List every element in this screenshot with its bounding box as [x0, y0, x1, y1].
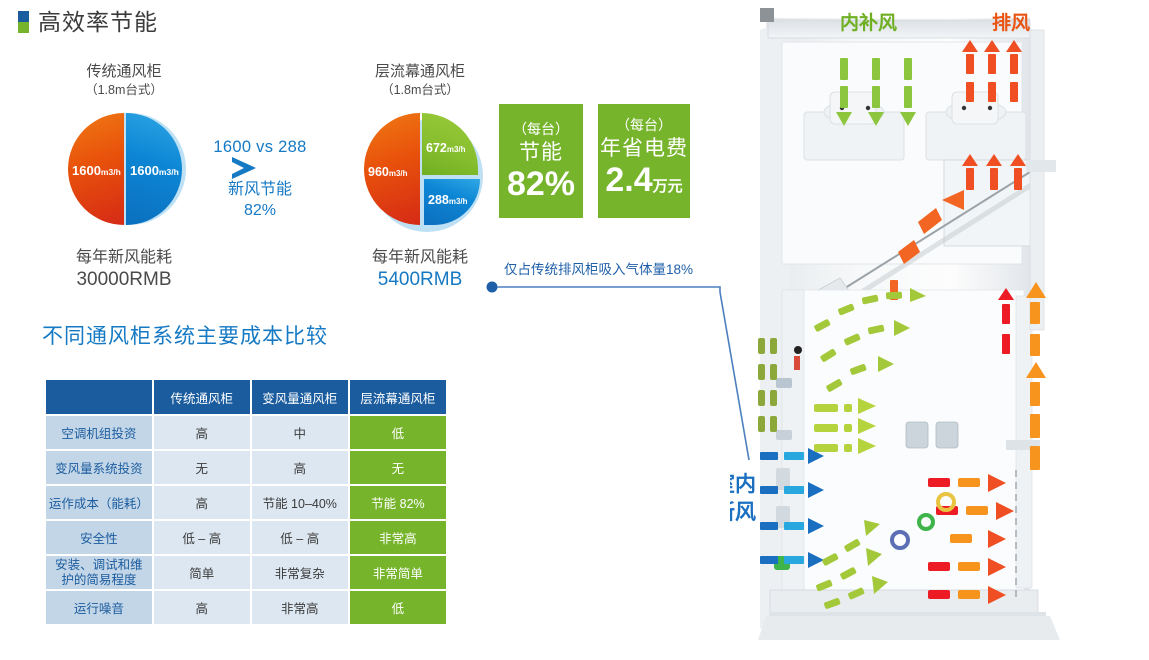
table-row-label: 安全性: [46, 521, 152, 554]
arrow-right-icon: [196, 157, 324, 179]
pie-label-supply: 1600m3/h: [130, 163, 179, 178]
badge-top-label: （每台）: [513, 121, 569, 138]
comparison-callout: 1600 vs 288 新风节能 82%: [196, 138, 324, 221]
table-cell: 无: [154, 451, 250, 484]
badge-mid-label: 节能: [519, 140, 563, 166]
badge-cost-saving: （每台） 年省电费 2.4万元: [598, 104, 690, 218]
table-row-label: 运行噪音: [46, 591, 152, 624]
table-row: 安装、调试和维护的简易程度简单非常复杂非常简单: [46, 556, 446, 589]
table-header-laminar: 层流幕通风柜: [350, 380, 446, 414]
footer-label: 每年新风能耗: [34, 247, 214, 269]
table-body: 空调机组投资高中低变风量系统投资无高无运作成本（能耗）高节能 10–40%节能 …: [46, 416, 446, 624]
label-room-fresh-air-line2: 新风: [730, 500, 756, 526]
chart-caption-traditional: 传统通风柜 （1.8m台式）: [34, 62, 214, 100]
badge-energy-saving: （每台） 节能 82%: [499, 104, 583, 218]
table-cell: 简单: [154, 556, 250, 589]
pie-label-exhaust: 1600m3/h: [72, 163, 121, 178]
table-header-row: 传统通风柜 变风量通风柜 层流幕通风柜: [46, 380, 446, 414]
comparison-label: 新风节能: [196, 179, 324, 200]
infographic-page: 高效率节能 传统通风柜 （1.8m台式） 1600m3/h 1600m3/h 每…: [0, 0, 1149, 660]
table-cell: 节能 10–40%: [252, 486, 348, 519]
header-square-icon: [18, 11, 29, 33]
table-cell-highlight: 非常简单: [350, 556, 446, 589]
page-title: 高效率节能: [38, 10, 158, 34]
label-exhaust: 排风: [992, 8, 1030, 35]
table-cell: 非常高: [252, 591, 348, 624]
caption-title: 层流幕通风柜: [330, 62, 510, 81]
table-row-label: 运作成本（能耗）: [46, 486, 152, 519]
chart-caption-laminar: 层流幕通风柜 （1.8m台式）: [330, 62, 510, 100]
table-row: 安全性低 – 高低 – 高非常高: [46, 521, 446, 554]
footer-value: 30000RMB: [34, 269, 214, 291]
table-row: 运行噪音高非常高低: [46, 591, 446, 624]
chart-block-traditional: 传统通风柜 （1.8m台式） 1600m3/h 1600m3/h 每年新风能耗 …: [34, 62, 214, 291]
caption-sub: （1.8m台式）: [34, 81, 214, 100]
footer-value: 5400RMB: [330, 269, 510, 291]
table-cell: 高: [252, 451, 348, 484]
fume-hood-photo: 内补风 排风 室内 新风: [730, 0, 1149, 660]
pie-label-exhaust: 960m3/h: [368, 165, 408, 179]
comparison-table: 传统通风柜 变风量通风柜 层流幕通风柜 空调机组投资高中低变风量系统投资无高无运…: [44, 378, 448, 626]
comparison-ratio: 1600 vs 288: [196, 138, 324, 157]
comparison-percent: 82%: [196, 200, 324, 221]
pie-label-fresh-air: 288m3/h: [428, 193, 468, 207]
badge-mid-label: 年省电费: [600, 136, 688, 162]
table-cell-highlight: 无: [350, 451, 446, 484]
table-row: 变风量系统投资无高无: [46, 451, 446, 484]
chart-footer-traditional: 每年新风能耗 30000RMB: [34, 247, 214, 291]
table-header-vav: 变风量通风柜: [252, 380, 348, 414]
table-row: 运作成本（能耗）高节能 10–40%节能 82%: [46, 486, 446, 519]
table-header-blank: [46, 380, 152, 414]
table-cell: 高: [154, 486, 250, 519]
badge-value: 82%: [507, 166, 575, 202]
chart-block-laminar: 层流幕通风柜 （1.8m台式） 960m3/h 672m3/h 288m3/h …: [330, 62, 510, 291]
page-header: 高效率节能: [18, 10, 158, 34]
pie-chart-traditional: 1600m3/h 1600m3/h: [68, 113, 180, 225]
caption-title: 传统通风柜: [34, 62, 214, 81]
table-cell: 中: [252, 416, 348, 449]
table-cell: 非常复杂: [252, 556, 348, 589]
label-internal-supply: 内补风: [840, 8, 897, 35]
table-row: 空调机组投资高中低: [46, 416, 446, 449]
table-cell: 低 – 高: [154, 521, 250, 554]
table-cell-highlight: 节能 82%: [350, 486, 446, 519]
badge-value: 2.4万元: [605, 162, 682, 205]
table-title: 不同通风柜系统主要成本比较: [42, 320, 328, 350]
table-cell-highlight: 非常高: [350, 521, 446, 554]
table-cell: 高: [154, 416, 250, 449]
chart-footer-laminar: 每年新风能耗 5400RMB: [330, 247, 510, 291]
table-cell: 高: [154, 591, 250, 624]
table-cell-highlight: 低: [350, 416, 446, 449]
photo-labels: 内补风 排风 室内 新风: [730, 0, 1149, 660]
callout-label: 仅占传统排风柜吸入气体量18%: [504, 258, 693, 278]
table-row-label: 变风量系统投资: [46, 451, 152, 484]
table-header-traditional: 传统通风柜: [154, 380, 250, 414]
pie-label-internal-supply: 672m3/h: [426, 141, 466, 155]
table-row-label: 空调机组投资: [46, 416, 152, 449]
table-row-label: 安装、调试和维护的简易程度: [46, 556, 152, 589]
badge-top-label: （每台）: [616, 117, 672, 134]
label-room-fresh-air-line1: 室内: [730, 472, 756, 498]
footer-label: 每年新风能耗: [330, 247, 510, 269]
caption-sub: （1.8m台式）: [330, 81, 510, 100]
table-cell-highlight: 低: [350, 591, 446, 624]
pie-chart-laminar: 960m3/h 672m3/h 288m3/h: [364, 113, 476, 225]
table-cell: 低 – 高: [252, 521, 348, 554]
